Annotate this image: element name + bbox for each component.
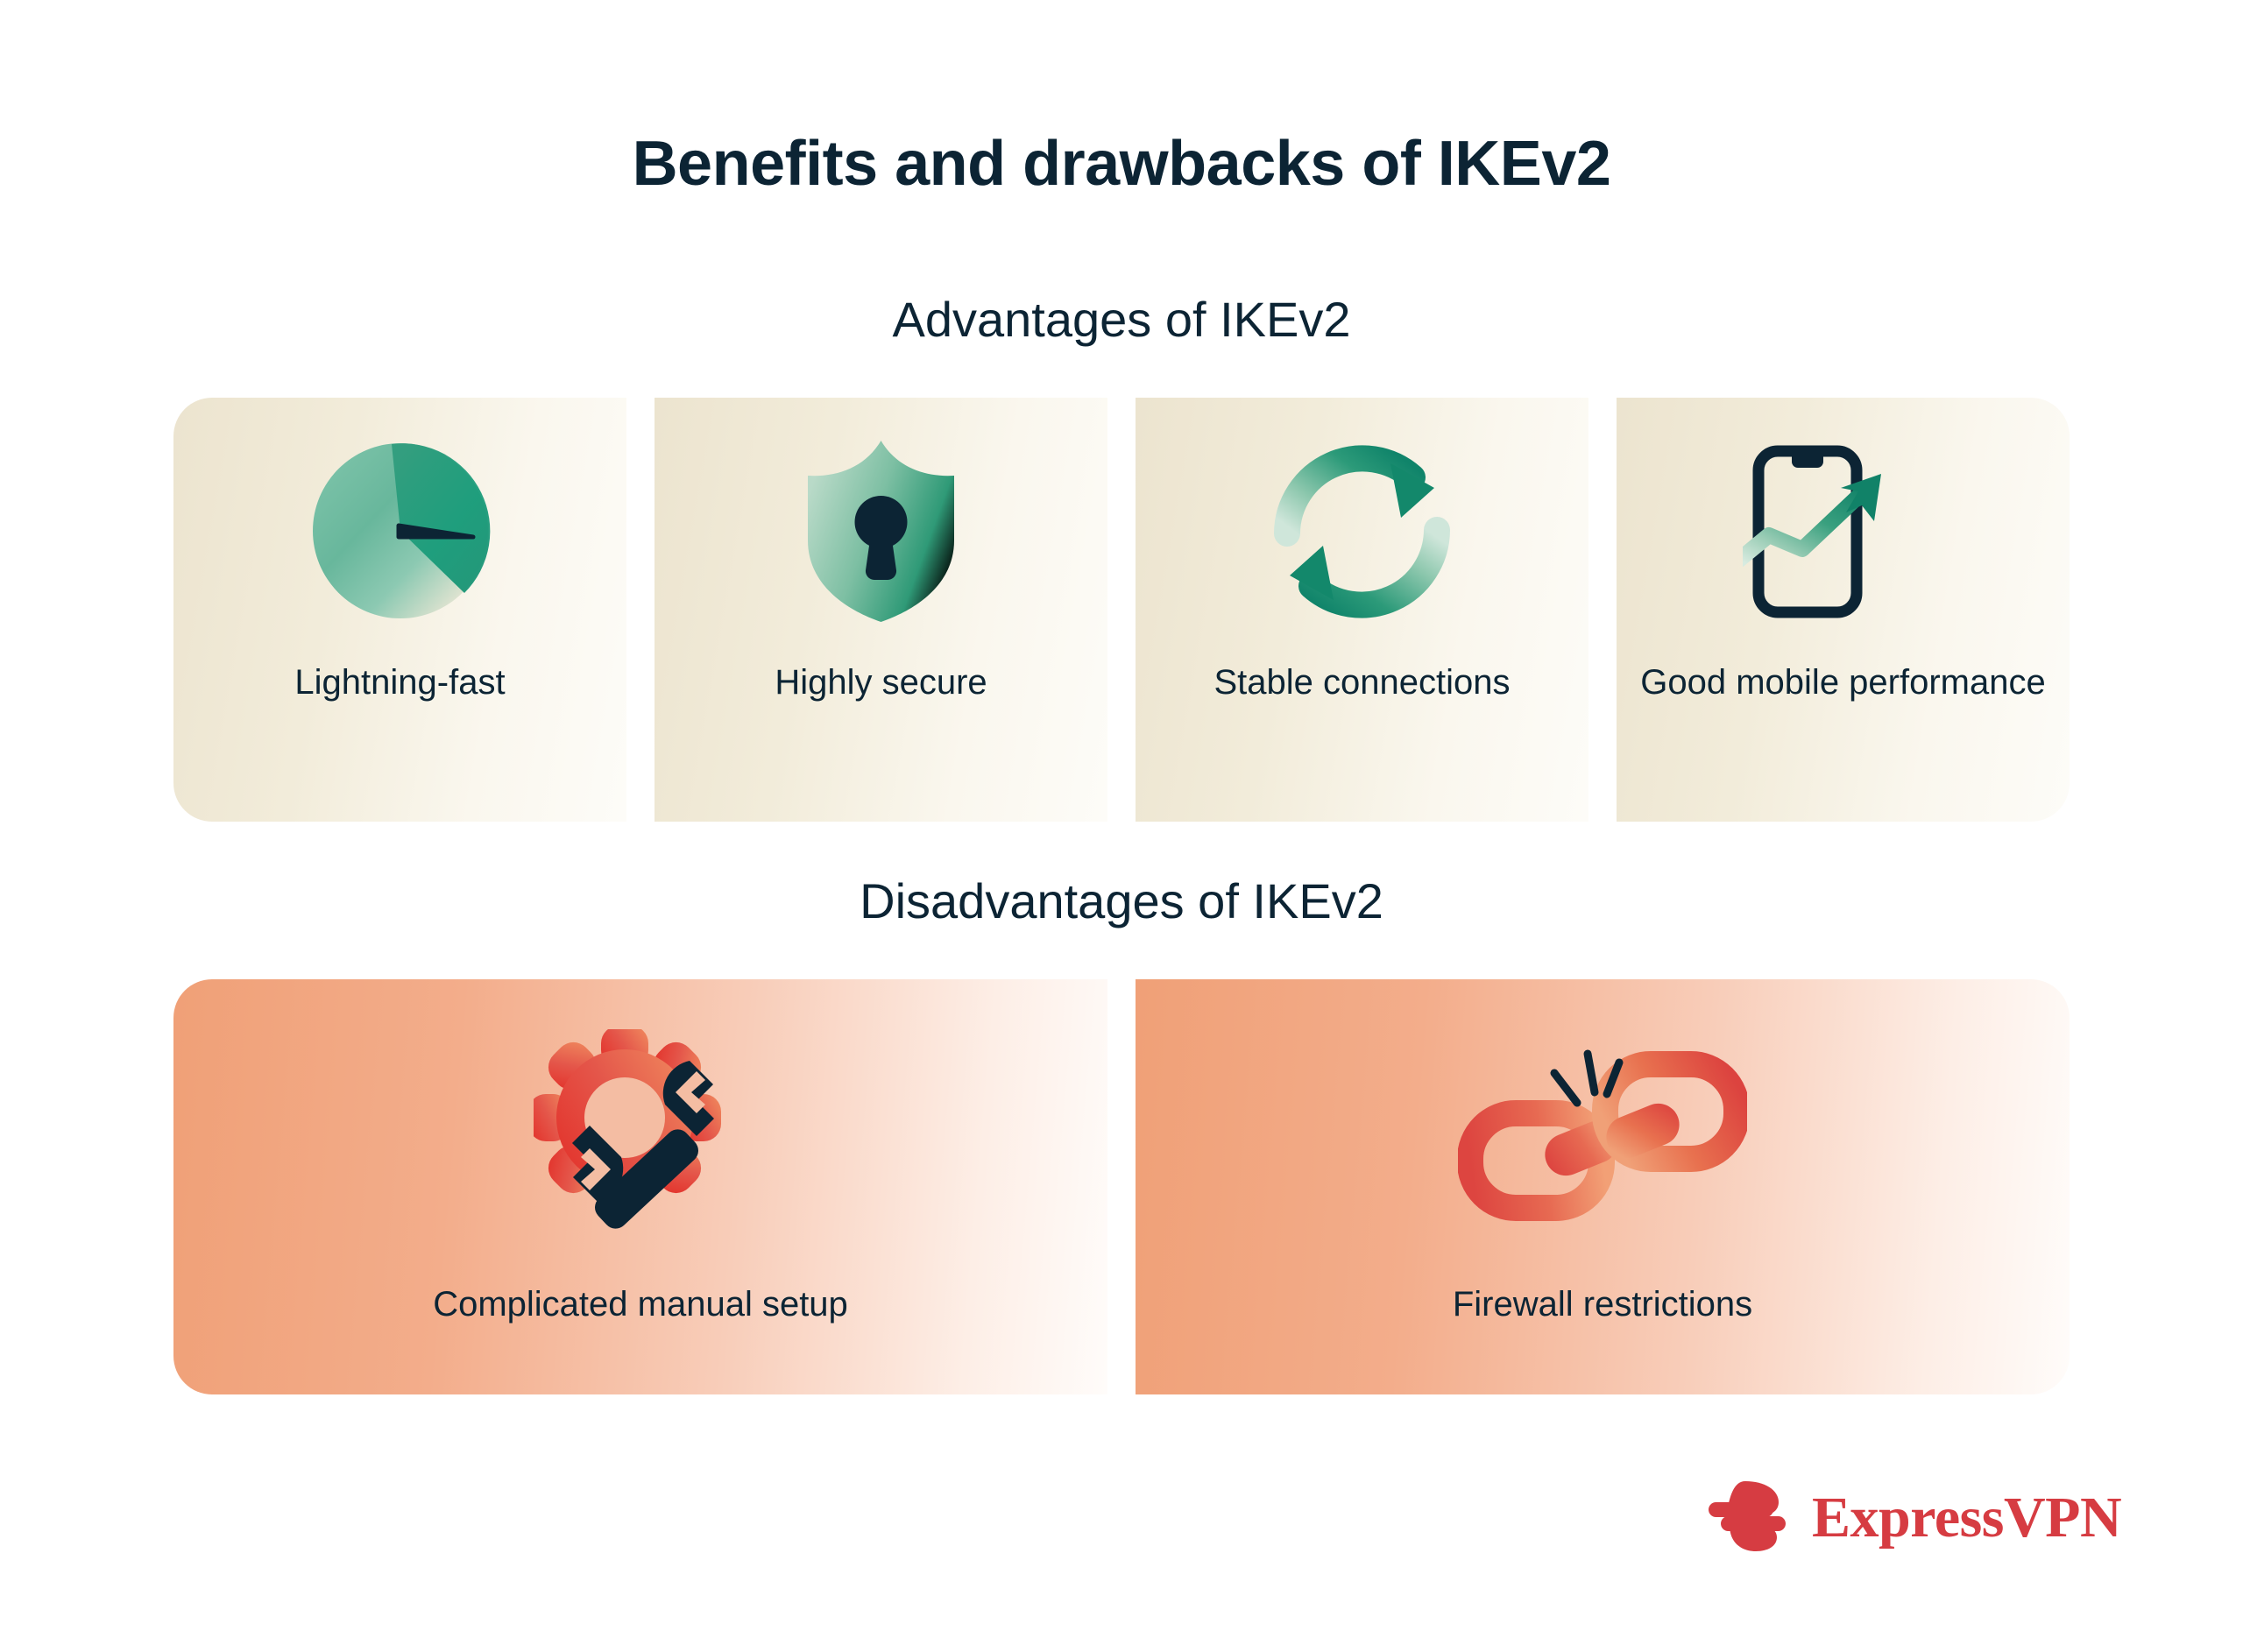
- disadvantage-card-label: Firewall restrictions: [1153, 1282, 2052, 1326]
- advantages-heading: Advantages of IKEv2: [0, 293, 2243, 347]
- broken-chain-icon: [1136, 1027, 2070, 1237]
- disadvantage-card-complicated-manual-setup: Complicated manual setup: [173, 979, 1107, 1394]
- gear-wrench-icon: [173, 1027, 1107, 1237]
- advantage-card-stable-connections: Stable connections: [1136, 398, 1588, 822]
- advantage-card-good-mobile-performance: Good mobile performance: [1617, 398, 2070, 822]
- advantage-card-label: Good mobile performance: [1634, 660, 2052, 705]
- advantage-card-label: Stable connections: [1153, 660, 1571, 705]
- disadvantage-card-firewall-restrictions: Firewall restrictions: [1136, 979, 2070, 1394]
- disadvantages-card-row: Complicated manual setup: [173, 979, 2070, 1394]
- advantage-card-lightning-fast: Lightning-fast: [173, 398, 626, 822]
- advantage-card-highly-secure: Highly secure: [655, 398, 1107, 822]
- advantages-card-row: Lightning-fast: [173, 398, 2070, 822]
- expressvpn-logo: ExpressVPN: [1709, 1470, 2077, 1566]
- infographic-canvas: Benefits and drawbacks of IKEv2 Advantag…: [0, 0, 2243, 1652]
- page-title: Benefits and drawbacks of IKEv2: [0, 130, 2243, 199]
- speedometer-icon: [173, 434, 626, 627]
- advantage-card-label: Lightning-fast: [191, 660, 609, 705]
- expressvpn-e-mark: [1709, 1479, 1793, 1557]
- disadvantage-card-label: Complicated manual setup: [191, 1282, 1090, 1326]
- shield-keyhole-icon: [655, 434, 1107, 627]
- brand-wordmark: ExpressVPN: [1812, 1489, 2121, 1547]
- refresh-arrows-icon: [1136, 434, 1588, 627]
- phone-growth-chart-icon: [1617, 434, 2070, 627]
- advantage-card-label: Highly secure: [672, 660, 1090, 705]
- disadvantages-heading: Disadvantages of IKEv2: [0, 874, 2243, 928]
